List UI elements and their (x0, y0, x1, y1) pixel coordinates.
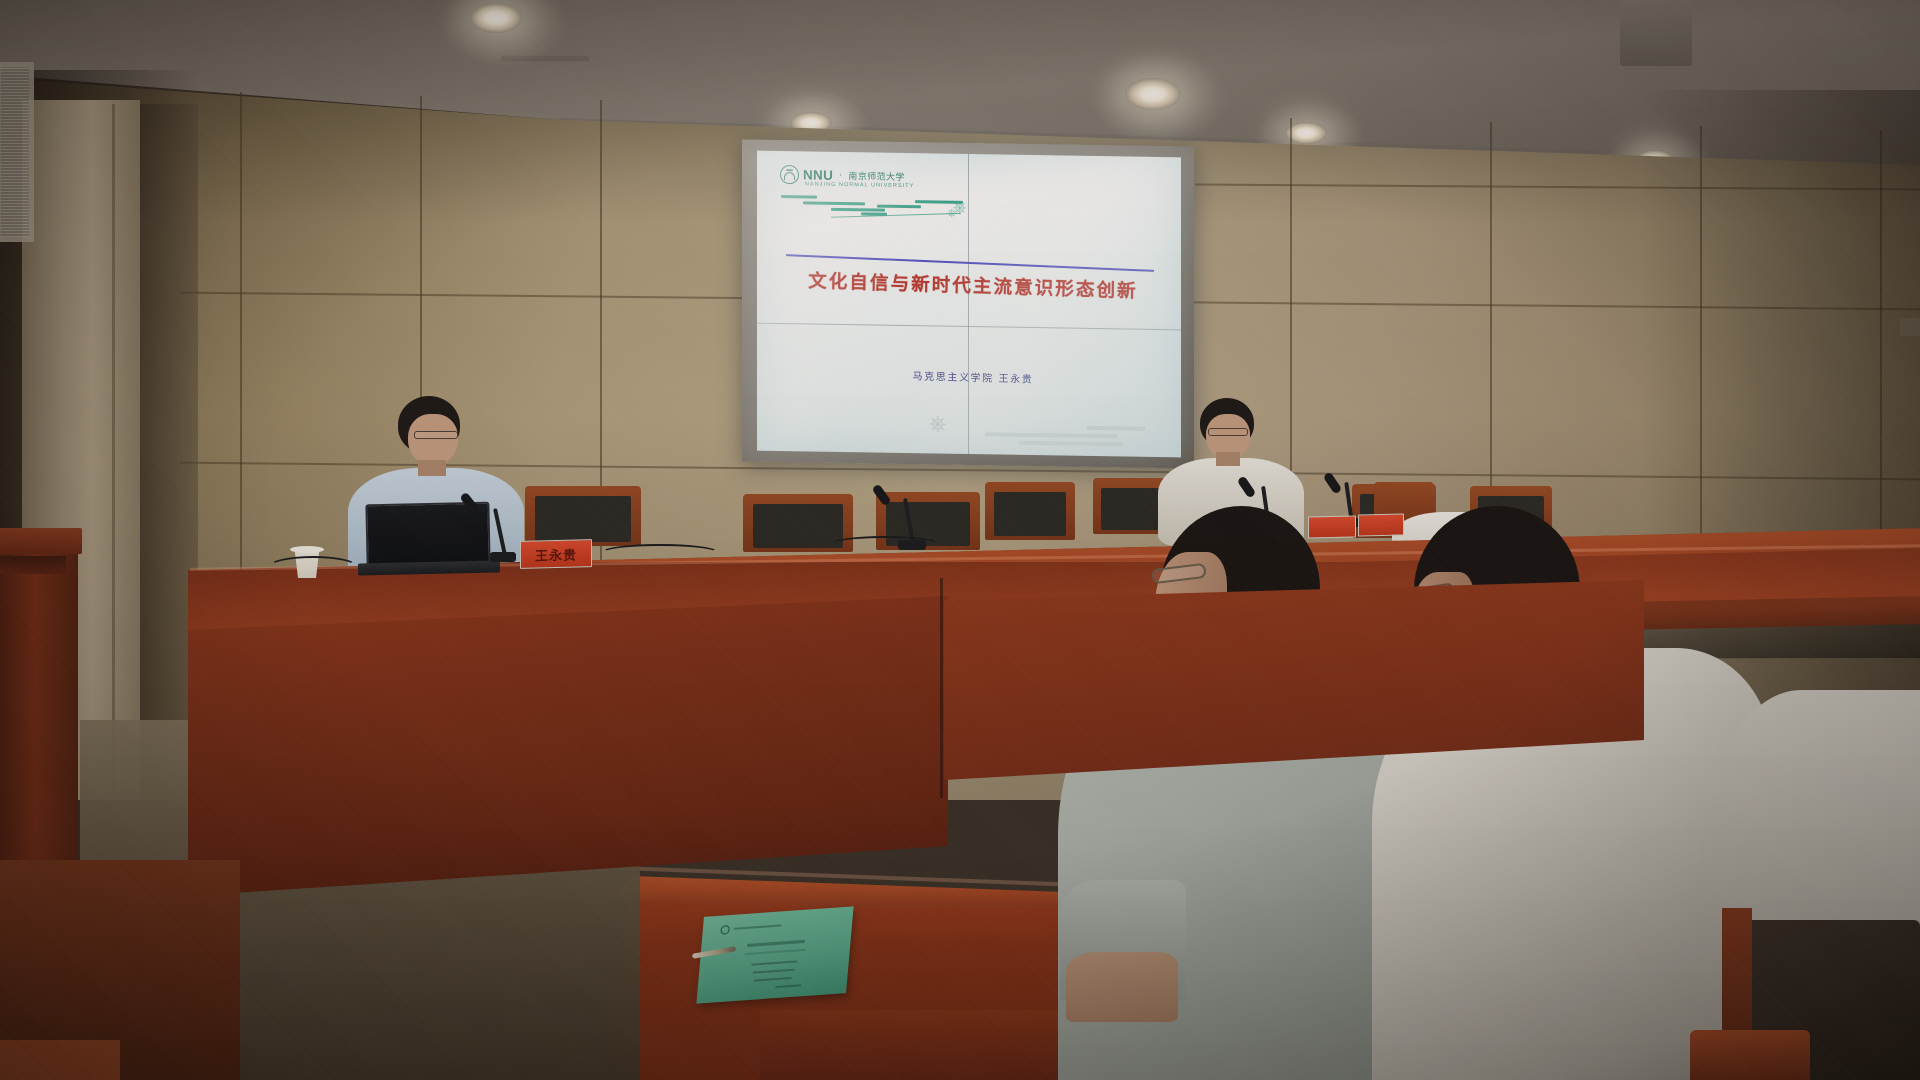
ceiling-duct (1620, 0, 1692, 66)
booklet-line (775, 984, 801, 987)
cable (830, 536, 940, 552)
podium-notch (0, 556, 66, 574)
floor-edge (0, 1040, 120, 1080)
booklet-line (751, 960, 797, 965)
booklet-line (754, 977, 792, 981)
photo-scene: NNU · 南京师范大学 NANJING NORMAL UNIVERSITY ⎈… (0, 0, 1920, 1080)
presentation-screen[interactable]: NNU · 南京师范大学 NANJING NORMAL UNIVERSITY ⎈… (757, 151, 1181, 458)
chair-backrest-pad (535, 496, 631, 542)
conference-booklet[interactable] (696, 906, 853, 1003)
head-table-skirt (188, 596, 948, 896)
chair-backrest-pad (1101, 488, 1161, 530)
booklet-line (747, 940, 805, 947)
recessed-downlight-icon (1125, 78, 1181, 110)
attendee-presenter-neck (418, 460, 446, 476)
paper-cup-rim (290, 546, 324, 553)
wall-vent (1900, 318, 1920, 336)
booklet-line (753, 969, 795, 973)
booklet-line (734, 924, 782, 929)
chair-backrest-pad (994, 492, 1066, 536)
booklet-line (744, 949, 806, 955)
head-table-skirt-seam (940, 578, 943, 798)
podium-top (0, 528, 82, 554)
booklet-logo-icon (720, 925, 730, 935)
recessed-downlight-icon (470, 3, 522, 33)
nameplate-text: 王永贵 (535, 544, 577, 564)
screen-glare (757, 151, 1181, 458)
glasses-icon (414, 431, 458, 439)
chair-backrest-pad (753, 504, 843, 548)
wall-seam (112, 104, 115, 794)
nameplate-presenter: 王永贵 (520, 539, 592, 569)
attendee-panelist-neck (1216, 452, 1240, 466)
foreground-chair-red (1690, 1030, 1810, 1080)
attendee-presenter-face (408, 414, 458, 466)
attendee-gray-shirt-forearm (1066, 952, 1178, 1022)
wall-speaker-icon (0, 62, 34, 242)
glasses-icon (1208, 428, 1248, 436)
cable (268, 556, 358, 578)
nameplate-right-2 (1358, 514, 1404, 537)
nameplate-right-1 (1308, 515, 1356, 538)
cable (600, 544, 720, 562)
